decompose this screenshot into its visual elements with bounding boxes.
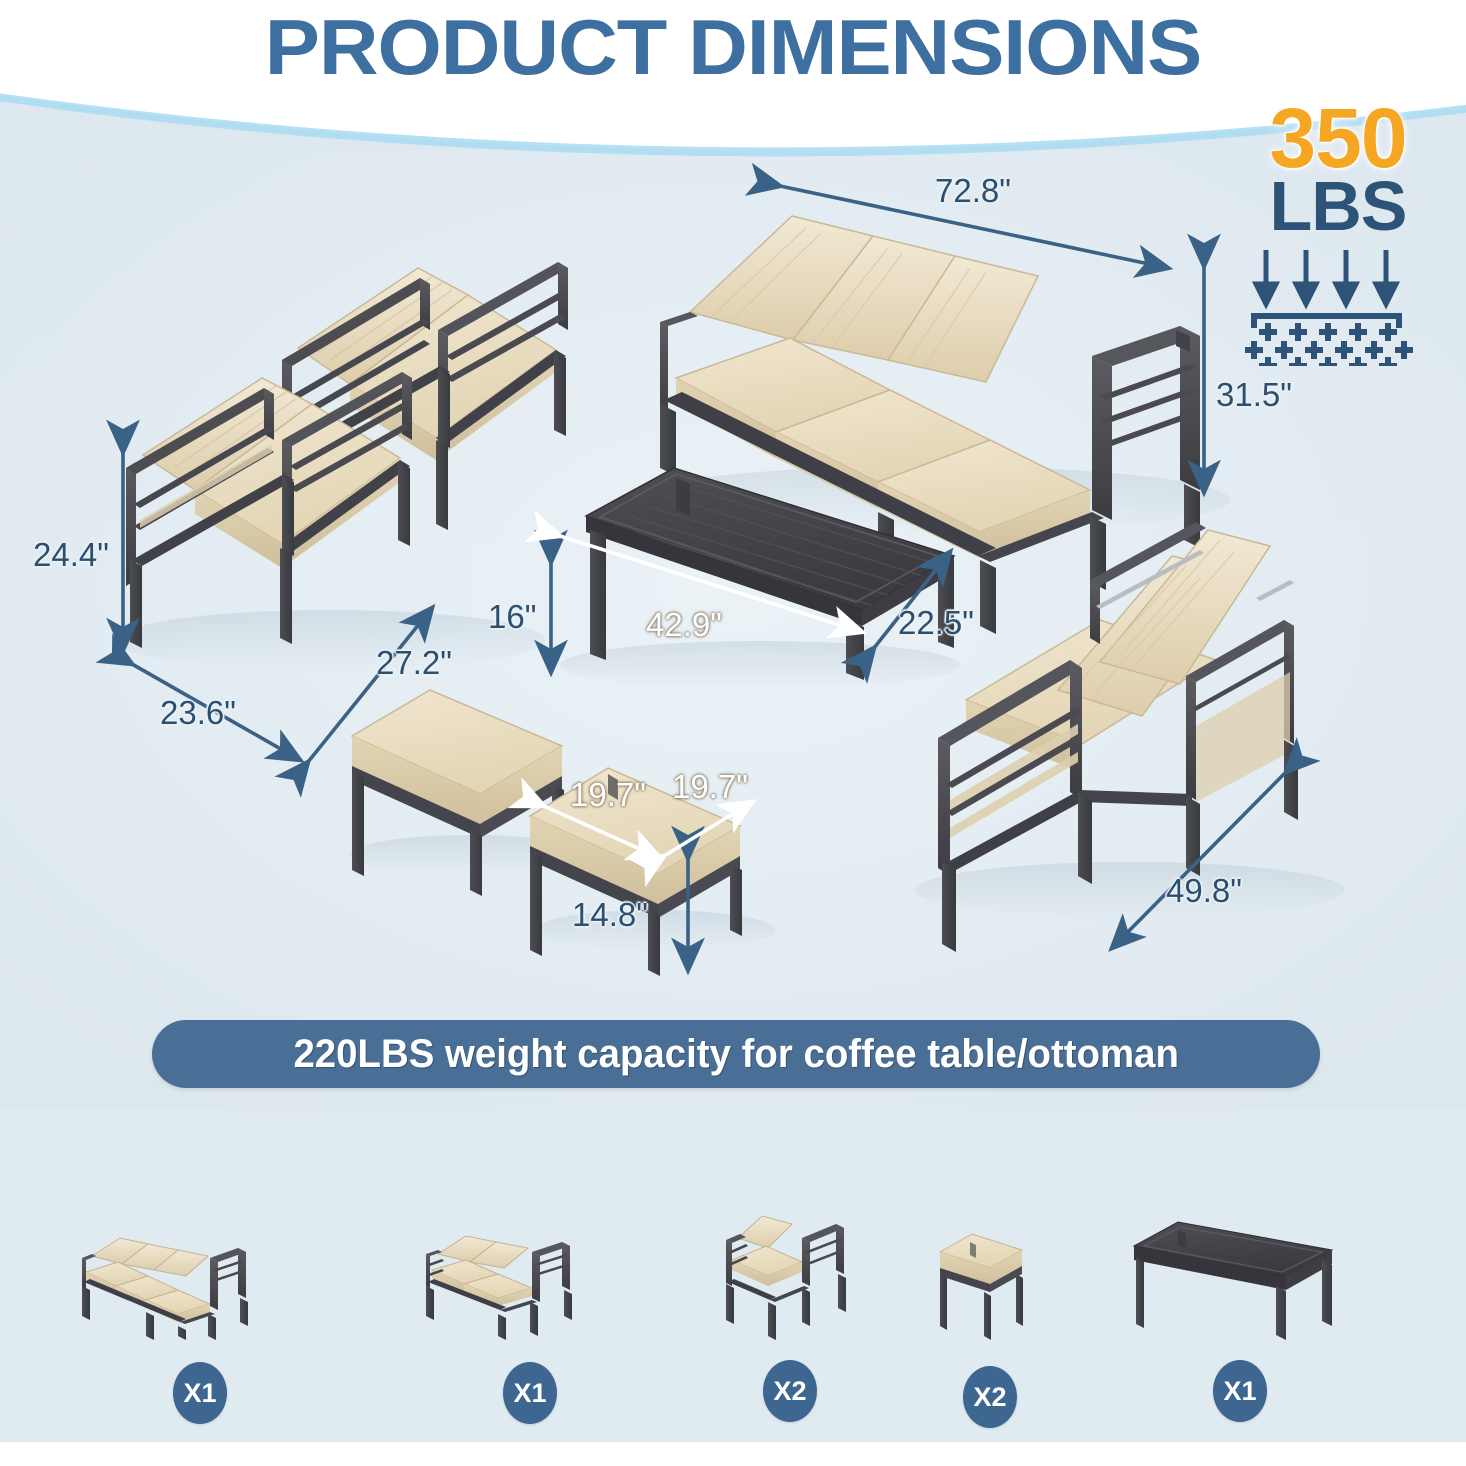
- dim-table-length: 42.9": [646, 606, 722, 644]
- capacity-banner: 220LBS weight capacity for coffee table/…: [152, 1020, 1320, 1088]
- loveseat-thumbnail-icon: [400, 1190, 660, 1340]
- coffee-table-thumbnail-icon: [1100, 1200, 1380, 1340]
- armchair-thumbnail-icon: [690, 1182, 890, 1340]
- qty-badge-coffee-table: X1: [1213, 1360, 1267, 1422]
- dim-ottoman-width: 19.7": [570, 776, 646, 814]
- item-armchair: X2: [690, 1182, 890, 1422]
- sofa-thumbnail-icon: [60, 1190, 340, 1340]
- item-coffee-table: X1: [1100, 1200, 1380, 1422]
- product-dimensions-infographic: PRODUCT DIMENSIONS 350 LBS: [0, 0, 1466, 1466]
- ottoman-thumbnail-icon: [900, 1208, 1080, 1340]
- dim-chair-height: 24.4": [33, 536, 109, 574]
- dim-loveseat-width: 49.8": [1166, 872, 1242, 910]
- dim-sofa-height: 31.5": [1216, 376, 1292, 414]
- dim-ottoman-height: 14.8": [572, 896, 648, 934]
- qty-badge-loveseat: X1: [503, 1362, 557, 1424]
- footer-strip: [0, 1442, 1466, 1466]
- dim-ottoman-depth: 19.7": [672, 768, 748, 806]
- dim-table-height: 16": [488, 598, 536, 636]
- dim-table-depth: 22.5": [898, 604, 974, 642]
- weight-unit: LBS: [1238, 173, 1438, 240]
- item-ottoman: X2: [900, 1208, 1080, 1428]
- dim-chair-depth: 27.2": [376, 644, 452, 682]
- downward-load-arrows-icon: [1244, 246, 1424, 366]
- capacity-banner-text: 220LBS weight capacity for coffee table/…: [293, 1032, 1179, 1077]
- weight-capacity-badge: 350 LBS: [1238, 100, 1438, 366]
- qty-badge-ottoman: X2: [963, 1366, 1017, 1428]
- page-title: PRODUCT DIMENSIONS: [0, 2, 1466, 93]
- qty-badge-armchair: X2: [763, 1360, 817, 1422]
- dim-sofa-width: 72.8": [935, 172, 1011, 210]
- item-loveseat: X1: [400, 1190, 660, 1424]
- item-sofa: X1: [60, 1190, 340, 1424]
- dim-chair-width: 23.6": [160, 694, 236, 732]
- weight-value: 350: [1238, 100, 1438, 177]
- qty-badge-sofa: X1: [173, 1362, 227, 1424]
